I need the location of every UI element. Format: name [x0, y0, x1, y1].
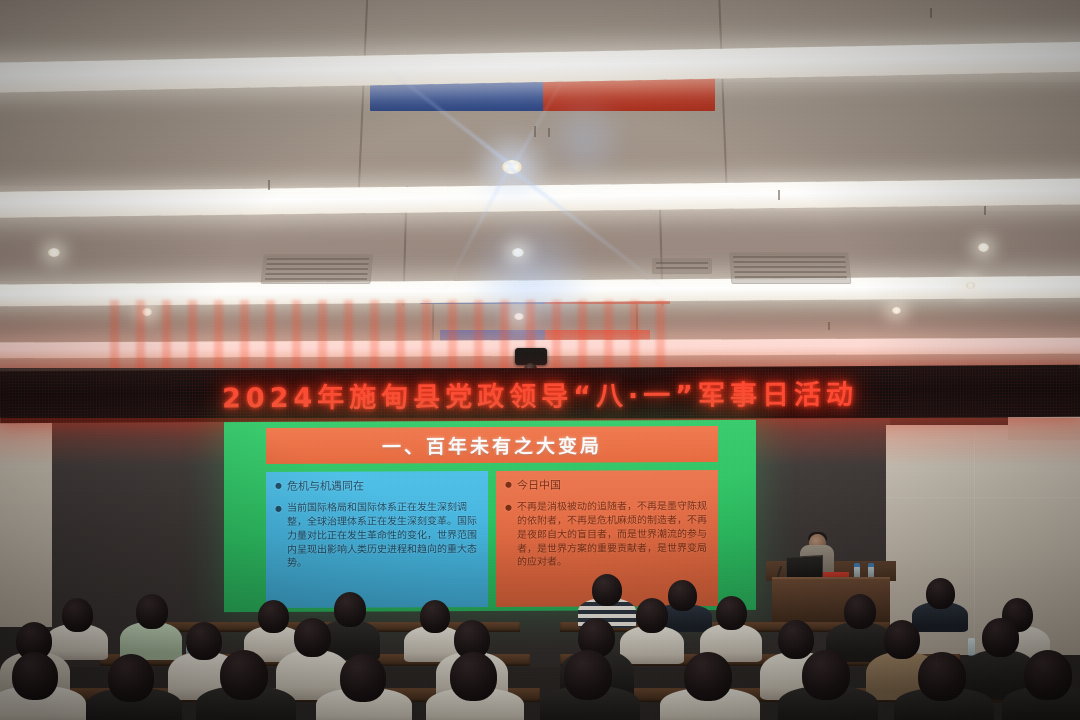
wall-panel-seam [886, 497, 1080, 498]
audience-head [564, 650, 612, 700]
audience-head [294, 618, 331, 657]
led-banner-reflection-streaks [110, 300, 670, 374]
sprinkler-drop [268, 180, 270, 190]
audience-head [334, 592, 366, 627]
led-banner: 2024年施甸县党政领导“八·一”军事日活动 [0, 365, 1080, 424]
led-banner-text: 2024年施甸县党政领导“八·一”军事日活动 [0, 371, 1080, 417]
audience-head [982, 618, 1019, 657]
slide-title-bar: 一、百年未有之大变局 [266, 426, 718, 464]
sprinkler-drop [984, 206, 986, 215]
audience-head [136, 594, 168, 629]
lens-flare-patch [540, 95, 630, 185]
audience-head [258, 600, 289, 633]
ceiling-downlight [978, 243, 989, 252]
audience-head [592, 574, 622, 606]
slide-title-text: 一、百年未有之大变局 [382, 431, 602, 459]
audience-head [668, 580, 697, 611]
audience-head [12, 652, 58, 700]
audience-head [684, 652, 732, 701]
vent-slats [656, 262, 708, 270]
ceiling-downlight [48, 248, 60, 257]
audience-head [926, 578, 955, 609]
audience-head [420, 600, 450, 633]
sprinkler-drop [534, 126, 536, 137]
vent-slats [265, 258, 369, 280]
audience-head [340, 654, 386, 702]
sprinkler-drop [828, 322, 830, 330]
bullet-dot-icon: ● [505, 478, 512, 493]
slide-bullet: ● 危机与机遇同在 [275, 478, 479, 494]
sprinkler-drop [548, 128, 550, 137]
audience-head [778, 620, 814, 659]
audience-head [108, 654, 154, 702]
audience-head [636, 598, 668, 633]
slide-bullet-text: 危机与机遇同在 [287, 478, 479, 494]
audience-head [918, 652, 966, 701]
sprinkler-drop [930, 8, 932, 18]
audience-head [450, 652, 497, 701]
ceiling-downlight [966, 282, 975, 289]
audience-head [802, 650, 850, 700]
audience-head [186, 622, 222, 660]
audience-head [62, 598, 93, 632]
audience-head [220, 650, 268, 700]
sprinkler-drop [778, 190, 780, 200]
slide-bullet-text: 今日中国 [517, 477, 709, 493]
audience-head [884, 620, 920, 659]
conference-hall-photo: 2024年施甸县党政领导“八·一”军事日活动 一、百年未有之大变局 ● 危机与机… [0, 0, 1080, 720]
audience-head [1024, 650, 1072, 700]
audience-head [716, 596, 747, 630]
ceiling-downlight [892, 307, 901, 314]
ceiling-air-vent [729, 252, 852, 284]
slide-bullet: ● 今日中国 [505, 477, 709, 493]
ceiling-air-vent [260, 254, 373, 284]
ceiling-air-vent [652, 258, 712, 274]
water-bottle [968, 638, 975, 656]
audience-head [844, 594, 876, 629]
vent-slats [733, 256, 847, 280]
bullet-dot-icon: ● [275, 479, 282, 494]
audience-area [0, 560, 1080, 720]
